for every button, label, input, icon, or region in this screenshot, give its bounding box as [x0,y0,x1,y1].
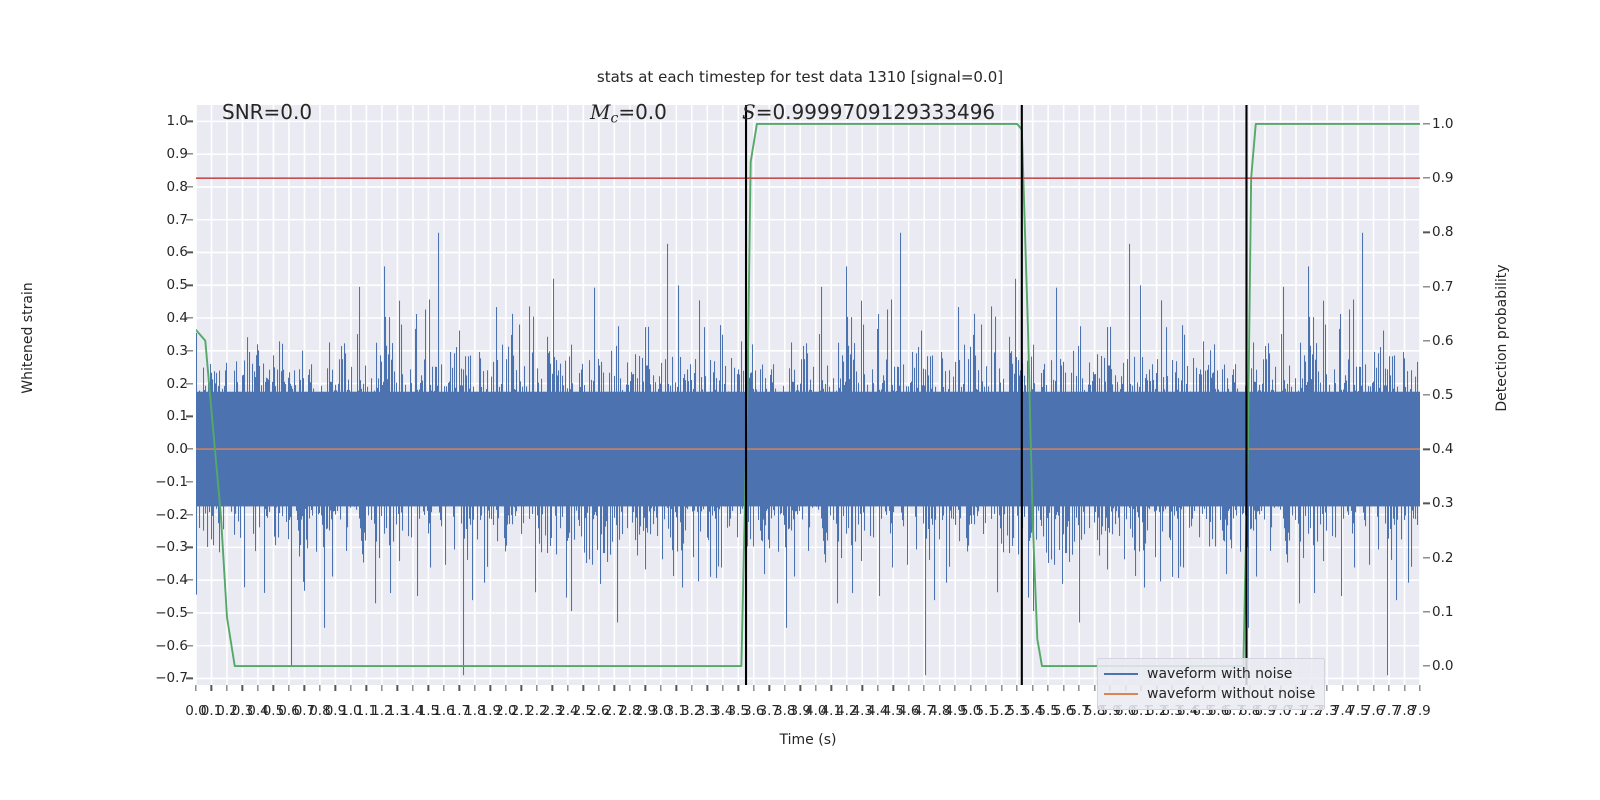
y-tick-mark-left [186,121,193,122]
y-tick-label-right: 0.2 [1432,550,1453,566]
y-tick-label-left: −0.1 [155,474,188,490]
x-tick-mark [583,685,584,691]
annotation-statistic-value: =0.9999709129333496 [756,100,995,124]
x-tick-mark [412,685,413,691]
x-axis-label: Time (s) [196,732,1420,748]
annotation-chirp-mass-value: =0.0 [618,100,667,124]
y-tick-mark-right [1423,286,1430,287]
y-tick-mark-left [186,219,193,220]
annotation-statistic-symbol: S [742,100,756,124]
y-tick-label-right: 0.3 [1432,495,1453,511]
x-tick-mark [552,685,553,691]
x-tick-mark [707,685,708,691]
legend-item-label: waveform without noise [1147,686,1315,702]
x-tick-mark [521,685,522,691]
chart-legend: waveform with noisewaveform without nois… [1097,658,1325,710]
x-tick-mark [1047,685,1048,691]
x-tick-mark [567,685,568,691]
y-axis-label-left: Whitened strain [20,228,36,448]
y-tick-label-right: 0.9 [1432,170,1453,186]
x-tick-mark [769,685,770,691]
x-tick-label: 7.9 [1409,703,1430,719]
y-tick-mark-left [186,481,193,482]
y-tick-label-right: 0.0 [1432,658,1453,674]
legend-color-swatch [1104,693,1138,695]
y-tick-label-right: 1.0 [1432,116,1453,132]
x-tick-mark [397,685,398,691]
overlay-layer [196,105,1420,685]
x-tick-mark [831,685,832,691]
x-tick-mark [1032,685,1033,691]
x-tick-mark [1342,685,1343,691]
x-tick-mark [877,685,878,691]
y-tick-mark-left [186,153,193,154]
y-tick-label-left: 0.7 [167,212,188,228]
x-tick-mark [924,685,925,691]
x-tick-mark [784,685,785,691]
x-tick-mark [459,685,460,691]
annotation-chirp-mass: Mc=0.0 [590,100,667,127]
x-tick-mark [1419,685,1420,691]
y-tick-label-left: 0.2 [167,376,188,392]
y-tick-label-left: 0.9 [167,146,188,162]
y-tick-label-left: −0.4 [155,572,188,588]
y-tick-label-right: 0.6 [1432,333,1453,349]
x-tick-mark [846,685,847,691]
x-tick-mark [676,685,677,691]
x-tick-mark [288,685,289,691]
y-tick-label-left: −0.6 [155,638,188,654]
y-tick-label-right: 0.5 [1432,387,1453,403]
y-tick-label-left: 0.5 [167,277,188,293]
x-tick-mark [598,685,599,691]
y-tick-mark-left [186,448,193,449]
y-tick-mark-left [186,383,193,384]
x-tick-mark [1326,685,1327,691]
x-tick-mark [490,685,491,691]
y-tick-mark-left [186,678,193,679]
x-tick-mark [614,685,615,691]
y-tick-label-right: 0.8 [1432,224,1453,240]
x-tick-mark [800,685,801,691]
x-tick-mark [195,685,196,691]
x-tick-mark [893,685,894,691]
legend-item[interactable]: waveform without noise [1104,684,1315,704]
y-tick-label-left: 0.3 [167,343,188,359]
y-tick-mark-left [186,547,193,548]
x-tick-mark [1001,685,1002,691]
x-tick-mark [1078,685,1079,691]
x-tick-mark [304,685,305,691]
y-tick-mark-left [186,645,193,646]
y-tick-mark-left [186,579,193,580]
y-tick-mark-left [186,416,193,417]
y-tick-mark-right [1423,665,1430,666]
x-tick-mark [1373,685,1374,691]
y-tick-mark-right [1423,394,1430,395]
y-tick-mark-right [1423,123,1430,124]
x-tick-mark [908,685,909,691]
y-tick-mark-right [1423,232,1430,233]
y-axis-label-right: Detection probability [1494,228,1510,448]
legend-item[interactable]: waveform with noise [1104,664,1315,684]
x-tick-mark [242,685,243,691]
x-tick-mark [939,685,940,691]
x-tick-mark [753,685,754,691]
x-tick-mark [536,685,537,691]
y-tick-mark-left [186,252,193,253]
y-tick-label-left: −0.2 [155,507,188,523]
legend-color-swatch [1104,673,1138,675]
y-tick-label-left: 0.6 [167,244,188,260]
annotation-chirp-mass-symbol: M [590,100,610,124]
x-tick-mark [629,685,630,691]
x-tick-mark [443,685,444,691]
y-tick-label-right: 0.1 [1432,604,1453,620]
x-tick-mark [1017,685,1018,691]
y-tick-mark-left [186,317,193,318]
chart-figure: stats at each timestep for test data 131… [0,0,1600,800]
y-tick-label-left: 0.4 [167,310,188,326]
y-tick-mark-right [1423,503,1430,504]
x-tick-mark [335,685,336,691]
y-tick-label-right: 0.4 [1432,441,1453,457]
y-tick-mark-left [186,514,193,515]
y-tick-label-right: 0.7 [1432,279,1453,295]
legend-item-label: waveform with noise [1147,666,1292,682]
x-tick-mark [428,685,429,691]
y-tick-mark-right [1423,340,1430,341]
x-tick-mark [211,685,212,691]
x-tick-mark [986,685,987,691]
x-tick-mark [319,685,320,691]
y-tick-mark-right [1423,178,1430,179]
y-tick-label-left: 0.0 [167,441,188,457]
x-tick-mark [381,685,382,691]
y-tick-label-left: 0.1 [167,408,188,424]
x-tick-mark [366,685,367,691]
x-tick-mark [1404,685,1405,691]
y-tick-mark-left [186,285,193,286]
plot-area [196,105,1420,685]
x-tick-mark [273,685,274,691]
x-tick-mark [660,685,661,691]
y-tick-mark-right [1423,557,1430,558]
x-tick-mark [257,685,258,691]
x-tick-mark [645,685,646,691]
x-tick-mark [226,685,227,691]
x-tick-mark [474,685,475,691]
chart-title: stats at each timestep for test data 131… [0,68,1600,86]
annotation-statistic: S=0.9999709129333496 [742,100,995,124]
y-tick-label-left: −0.3 [155,539,188,555]
y-tick-label-left: 1.0 [167,113,188,129]
y-tick-mark-right [1423,611,1430,612]
x-tick-mark [738,685,739,691]
y-tick-label-left: −0.5 [155,605,188,621]
x-tick-mark [1063,685,1064,691]
x-tick-mark [505,685,506,691]
y-tick-mark-right [1423,449,1430,450]
y-tick-label-left: −0.7 [155,670,188,686]
x-tick-mark [815,685,816,691]
x-tick-mark [350,685,351,691]
x-tick-mark [1388,685,1389,691]
y-tick-mark-left [186,612,193,613]
x-tick-mark [955,685,956,691]
y-tick-mark-left [186,350,193,351]
x-tick-mark [862,685,863,691]
x-tick-mark [691,685,692,691]
x-tick-mark [1094,685,1095,691]
x-tick-mark [722,685,723,691]
annotation-snr: SNR=0.0 [222,100,312,124]
x-tick-mark [970,685,971,691]
y-tick-mark-left [186,186,193,187]
x-tick-mark [1357,685,1358,691]
y-tick-label-left: 0.8 [167,179,188,195]
